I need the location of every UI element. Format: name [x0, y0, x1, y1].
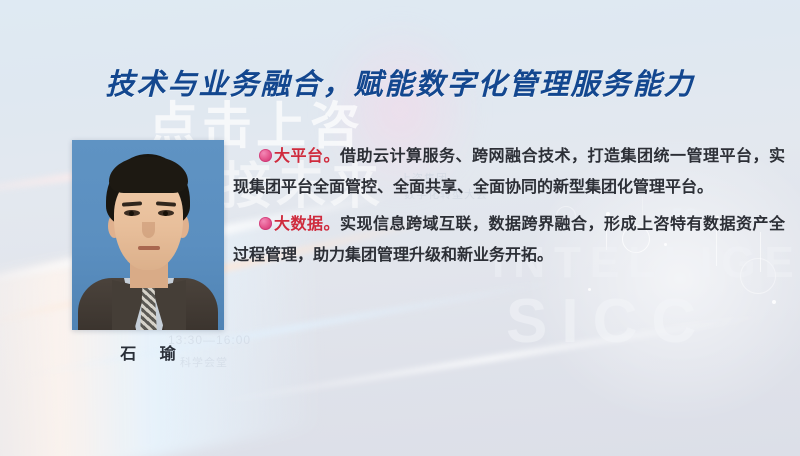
- bullet-separator-2: 。: [324, 214, 340, 233]
- bullet-paragraph-1: 大平台。 借助云计算服务、跨网融合技术，打造集团统一管理平台，实现集团平台全面管…: [233, 140, 785, 202]
- filled-circle-bullet-icon: [259, 217, 272, 230]
- bullet-keyword-2: 大数据: [274, 214, 324, 233]
- tech-node-dot: [772, 300, 776, 304]
- portrait-nose: [142, 222, 155, 238]
- portrait-pupil-left: [129, 211, 134, 216]
- bullet-separator-1: 。: [324, 146, 340, 165]
- portrait-mouth: [138, 246, 160, 250]
- filled-circle-bullet-icon: [259, 149, 272, 162]
- bullet-lead-in-1: 大平台。: [259, 140, 340, 171]
- content-body: 大平台。 借助云计算服务、跨网融合技术，打造集团统一管理平台，实现集团平台全面管…: [233, 140, 785, 272]
- bullet-paragraph-2: 大数据。 实现信息跨域互联，数据跨界融合，形成上咨特有数据资产全过程管理，助力集…: [233, 208, 785, 270]
- slide-title: 技术与业务融合，赋能数字化管理服务能力: [0, 61, 800, 103]
- bullet-lead-in-2: 大数据。: [259, 208, 340, 239]
- portrait-necktie: [140, 288, 157, 330]
- watermark-en-sicc: SICC: [506, 286, 710, 357]
- portrait-pupil-right: [163, 211, 168, 216]
- bullet-keyword-1: 大平台: [274, 146, 324, 165]
- portrait-fringe: [109, 157, 188, 193]
- presentation-slide: 点击上咨 链接未来 INTELLIGENT SICC 5G 上咨集团 数字化转型…: [0, 0, 800, 456]
- speaker-name: 石 瑜: [72, 340, 224, 364]
- speaker-portrait: [72, 140, 224, 330]
